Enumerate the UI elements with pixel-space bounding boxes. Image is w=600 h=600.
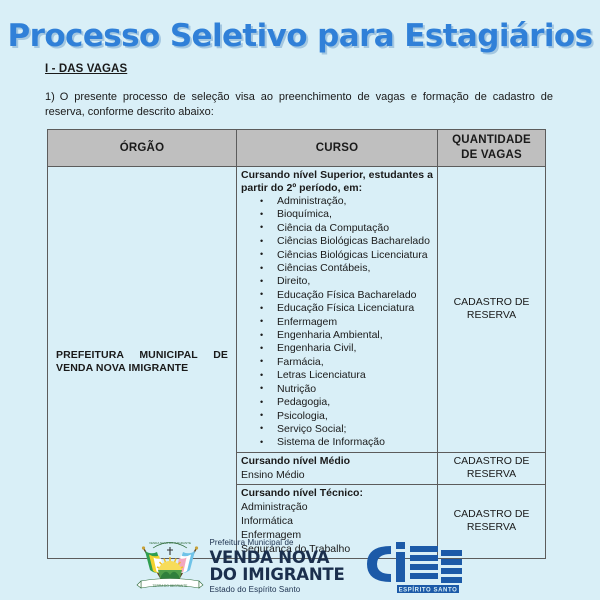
list-item: Informática	[241, 514, 433, 528]
list-item: Engenharia Civil,	[241, 342, 433, 355]
course-list-superior: Administração, Bioquímica, Ciência da Co…	[241, 195, 433, 450]
intro-paragraph: 1)O presente processo de seleção visa ao…	[45, 90, 553, 120]
column-header-quantidade-line2: DE VAGAS	[442, 148, 541, 163]
list-item: Farmácia,	[241, 356, 433, 369]
list-item: Administração	[241, 500, 433, 514]
prefeitura-state: Estado do Espírito Santo	[209, 586, 344, 594]
list-item: Pedagogia,	[241, 396, 433, 409]
page-title: Processo Seletivo para Estagiários	[0, 18, 600, 54]
vagas-table-wrapper: ÓRGÃO CURSO QUANTIDADE DE VAGAS PREFEITU…	[47, 129, 545, 559]
table-header-row: ÓRGÃO CURSO QUANTIDADE DE VAGAS	[48, 130, 546, 167]
list-item: Psicologia,	[241, 410, 433, 423]
table-body: PREFEITURA MUNICIPAL DE VENDA NOVA IMIGR…	[48, 167, 546, 559]
prefeitura-wordmark: Prefeitura Municipal de VENDA NOVA DO IM…	[209, 539, 344, 594]
orgao-line1: PREFEITURA MUNICIPAL DE	[56, 349, 228, 362]
column-header-curso: CURSO	[237, 130, 438, 167]
list-item: Nutrição	[241, 383, 433, 396]
quantidade-line1: CADASTRO DE	[442, 455, 541, 468]
cell-curso-superior: Cursando nível Superior, estudantes a pa…	[237, 167, 438, 453]
cell-quantidade-medio: CADASTRO DE RESERVA	[438, 452, 546, 484]
table-head: ÓRGÃO CURSO QUANTIDADE DE VAGAS	[48, 130, 546, 167]
list-item: Administração,	[241, 195, 433, 208]
level-title-superior-line2: partir do 2º período, em:	[241, 182, 433, 195]
document-page: Processo Seletivo para Estagiários I - D…	[0, 0, 600, 600]
list-item: Direito,	[241, 275, 433, 288]
cell-curso-medio: Cursando nível Médio Ensino Médio	[237, 452, 438, 484]
prefeitura-logo: Prefeitura Municipal de VENDA NOVA DO IM…	[209, 539, 344, 594]
orgao-line2: VENDA NOVA IMIGRANTE	[56, 362, 228, 375]
svg-text:VENDA NOVA DO IMIGRANTE: VENDA NOVA DO IMIGRANTE	[149, 541, 191, 545]
ciee-subtitle: ESPÍRITO SANTO	[398, 585, 457, 593]
quantidade-line2: RESERVA	[442, 309, 541, 322]
list-item: Ciências Biológicas Bacharelado	[241, 235, 433, 248]
quantidade-line1: CADASTRO DE	[442, 296, 541, 309]
column-header-orgao: ÓRGÃO	[48, 130, 237, 167]
cell-orgao: PREFEITURA MUNICIPAL DE VENDA NOVA IMIGR…	[48, 167, 237, 559]
column-header-quantidade: QUANTIDADE DE VAGAS	[438, 130, 546, 167]
section-heading: I - DAS VAGAS	[45, 63, 127, 75]
quantidade-line2: RESERVA	[442, 468, 541, 481]
list-item: Ciência da Computação	[241, 222, 433, 235]
list-item: Engenharia Ambiental,	[241, 329, 433, 342]
list-item: Ensino Médio	[241, 468, 433, 482]
vagas-table: ÓRGÃO CURSO QUANTIDADE DE VAGAS PREFEITU…	[47, 129, 546, 559]
quantidade-line1: CADASTRO DE	[442, 508, 541, 521]
list-item: Sistema de Informação	[241, 436, 433, 449]
prefeitura-prefix: Prefeitura Municipal de	[209, 539, 344, 547]
table-row: PREFEITURA MUNICIPAL DE VENDA NOVA IMIGR…	[48, 167, 546, 453]
list-item: Enfermagem	[241, 316, 433, 329]
column-header-quantidade-line1: QUANTIDADE	[442, 133, 541, 148]
level-title-superior-line1: Cursando nível Superior, estudantes a	[241, 169, 433, 182]
prefeitura-name-line1: VENDA NOVA	[209, 549, 344, 566]
footer-logos: VENDA NOVA DO IMIGRANTE	[0, 533, 600, 600]
coat-of-arms-icon: VENDA NOVA DO IMIGRANTE	[133, 535, 207, 599]
list-item: Serviço Social;	[241, 423, 433, 436]
list-item: Bioquímica,	[241, 208, 433, 221]
cell-quantidade-superior: CADASTRO DE RESERVA	[438, 167, 546, 453]
level-title-tecnico: Cursando nível Técnico:	[241, 487, 433, 500]
list-item: Educação Física Bacharelado	[241, 289, 433, 302]
list-item: Ciências Biológicas Licenciatura	[241, 249, 433, 262]
intro-text: O presente processo de seleção visa ao p…	[45, 91, 553, 118]
list-item: Letras Licenciatura	[241, 369, 433, 382]
list-item: Ciências Contábeis,	[241, 262, 433, 275]
prefeitura-name-line2: DO IMIGRANTE	[209, 566, 344, 583]
ciee-logo-icon: ESPÍRITO SANTO	[361, 538, 467, 596]
course-list-medio: Ensino Médio	[241, 468, 433, 482]
intro-number: 1)	[45, 91, 55, 103]
list-item: Educação Física Licenciatura	[241, 302, 433, 315]
level-title-medio: Cursando nível Médio	[241, 455, 433, 468]
svg-text:TERRA DO IMIGRANTE: TERRA DO IMIGRANTE	[153, 584, 188, 588]
